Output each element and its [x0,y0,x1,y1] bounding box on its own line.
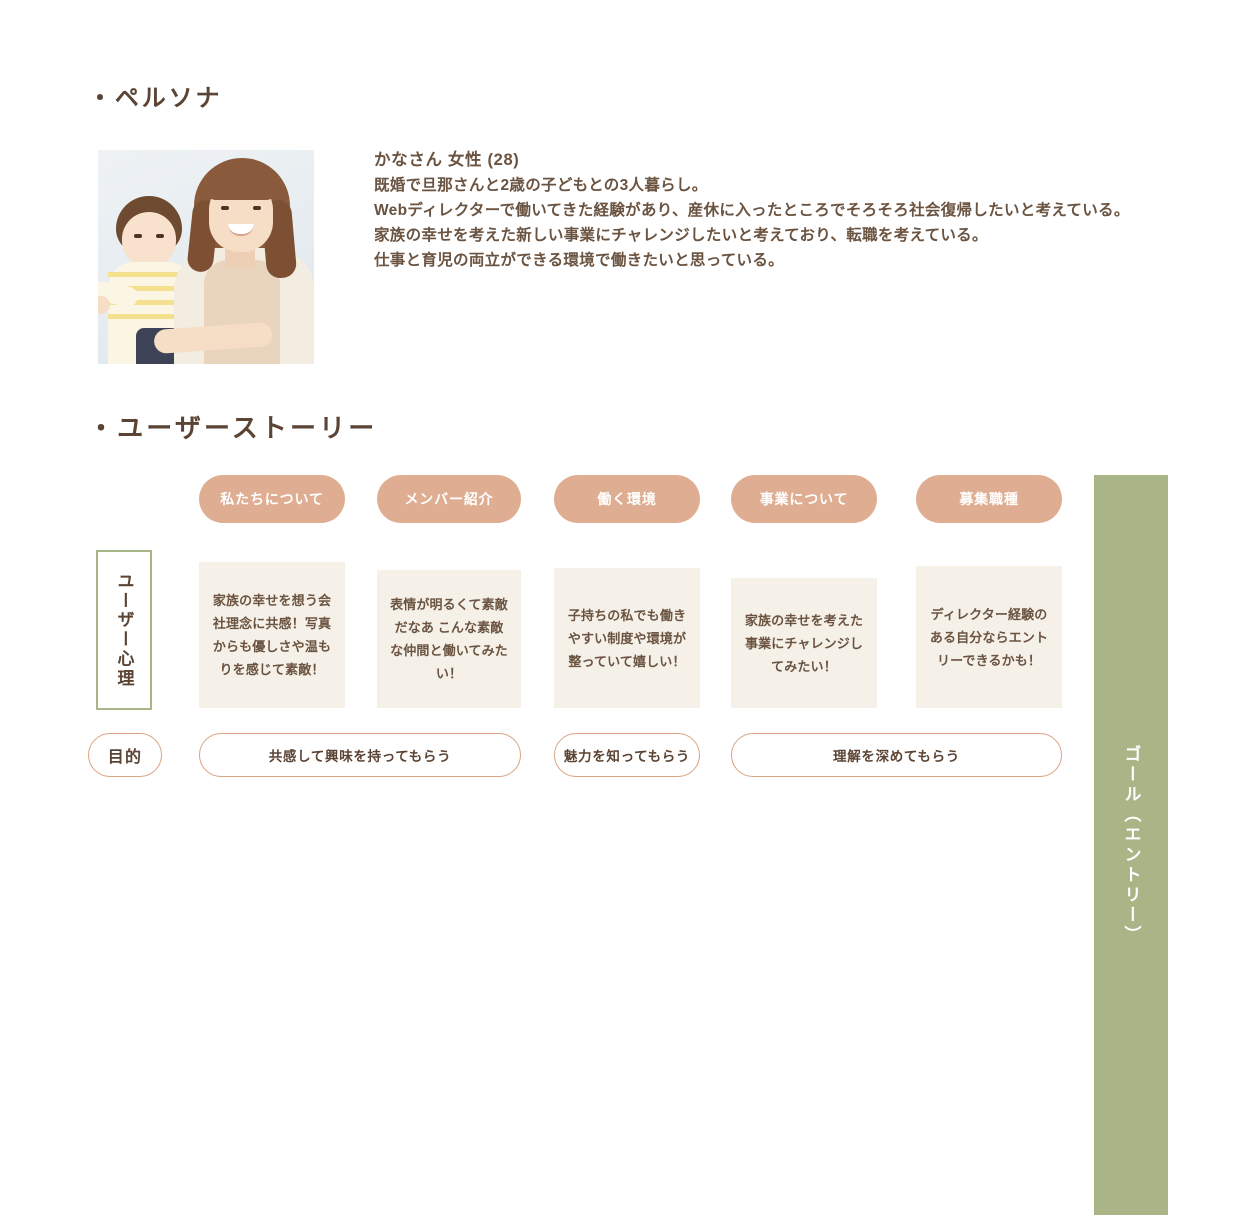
psychology-card-5: ディレクター経験のある自分ならエントリーできるかも！ [916,566,1062,708]
purpose-pill-2[interactable]: 魅力を知ってもらう [554,733,700,777]
stage-pill-4[interactable]: 事業について [731,475,877,523]
purpose-pill-1[interactable]: 共感して興味を持ってもらう [199,733,521,777]
stage-pill-5[interactable]: 募集職種 [916,475,1062,523]
mother-eye-left [221,206,229,210]
psychology-card-3: 子持ちの私でも働きやすい制度や環境が整っていて嬉しい！ [554,568,700,708]
persona-name-line: かなさん 女性 (28) [374,148,1194,173]
baby-face [122,212,176,268]
persona-line-3: 家族の幸せを考えた新しい事業にチャレンジしたいと考えており、転職を考えている。 [374,223,1194,248]
persona-line-2: Webディレクターで働いてきた経験があり、産休に入ったところでそろそろ社会復帰し… [374,198,1194,223]
stage-pill-1[interactable]: 私たちについて [199,475,345,523]
psychology-card-1: 家族の幸せを想う会社理念に共感！写真からも優しさや温もりを感じて素敵！ [199,562,345,708]
baby-eye-right [156,234,164,238]
row-label-user-psychology-text: ユーザー心理 [112,572,137,688]
goal-column-text: ゴール（エントリー） [1119,745,1144,946]
persona-line-1: 既婚で旦那さんと2歳の子どもとの3人暮らし。 [374,173,1194,198]
persona-photo [98,150,314,364]
persona-description: かなさん 女性 (28) 既婚で旦那さんと2歳の子どもとの3人暮らし。 Webデ… [374,148,1194,273]
baby-eye-left [134,234,142,238]
row-label-purpose: 目的 [88,733,162,777]
page-title-persona: ・ペルソナ [88,78,222,113]
psychology-card-2: 表情が明るくて素敵だなあ こんな素敵な仲間と働いてみたい！ [377,570,521,708]
mother-eye-right [253,206,261,210]
mother-bangs [205,170,277,200]
stage-pill-3[interactable]: 働く環境 [554,475,700,523]
purpose-pill-3[interactable]: 理解を深めてもらう [731,733,1062,777]
stage-pill-2[interactable]: メンバー紹介 [377,475,521,523]
psychology-card-4: 家族の幸せを考えた事業にチャレンジしてみたい！ [731,578,877,708]
row-label-user-psychology: ユーザー心理 [96,550,152,710]
goal-column: ゴール（エントリー） [1094,475,1168,1215]
persona-line-4: 仕事と育児の両立ができる環境で働きたいと思っている。 [374,248,1194,273]
user-story-diagram: 私たちについて メンバー紹介 働く環境 事業について 募集職種 ユーザー心理 家… [0,440,1250,800]
